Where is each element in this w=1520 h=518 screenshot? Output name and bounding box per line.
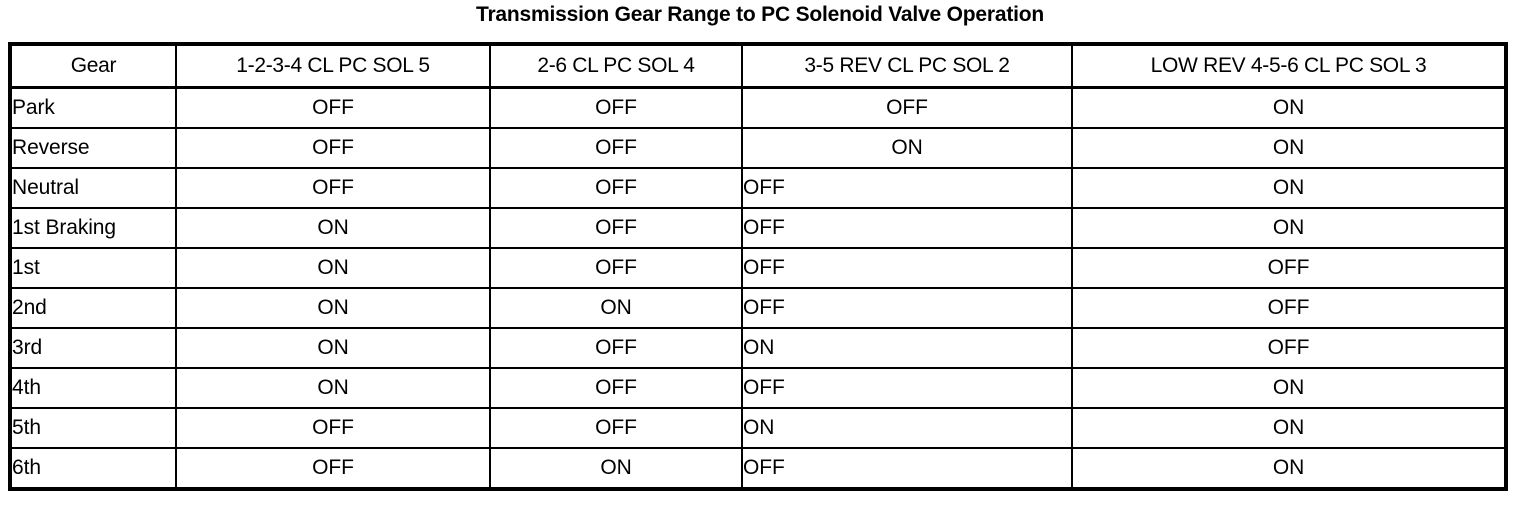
cell-sol3: ON — [1072, 168, 1506, 208]
column-header-sol2: 3-5 REV CL PC SOL 2 — [742, 44, 1072, 88]
solenoid-operation-table: Gear 1-2-3-4 CL PC SOL 5 2-6 CL PC SOL 4… — [8, 42, 1508, 491]
cell-gear: Neutral — [10, 168, 176, 208]
column-header-sol5: 1-2-3-4 CL PC SOL 5 — [176, 44, 490, 88]
table-header-row: Gear 1-2-3-4 CL PC SOL 5 2-6 CL PC SOL 4… — [10, 44, 1506, 88]
cell-sol5: ON — [176, 328, 490, 368]
cell-sol4: OFF — [490, 88, 742, 129]
cell-sol4: OFF — [490, 208, 742, 248]
cell-sol2: ON — [742, 328, 1072, 368]
cell-sol5: OFF — [176, 448, 490, 489]
cell-sol5: ON — [176, 368, 490, 408]
cell-gear: 2nd — [10, 288, 176, 328]
table-row: ParkOFFOFFOFFON — [10, 88, 1506, 129]
cell-sol2: ON — [742, 128, 1072, 168]
table-row: 5thOFFOFFONON — [10, 408, 1506, 448]
cell-sol3: OFF — [1072, 248, 1506, 288]
cell-sol3: ON — [1072, 368, 1506, 408]
cell-sol4: OFF — [490, 248, 742, 288]
page-root: Transmission Gear Range to PC Solenoid V… — [0, 0, 1520, 518]
cell-sol5: OFF — [176, 128, 490, 168]
cell-gear: 6th — [10, 448, 176, 489]
cell-sol2: OFF — [742, 88, 1072, 129]
table-row: 2ndONONOFFOFF — [10, 288, 1506, 328]
cell-sol5: ON — [176, 208, 490, 248]
cell-sol4: OFF — [490, 408, 742, 448]
table-header: Gear 1-2-3-4 CL PC SOL 5 2-6 CL PC SOL 4… — [10, 44, 1506, 88]
cell-gear: Reverse — [10, 128, 176, 168]
cell-sol5: OFF — [176, 88, 490, 129]
table-row: NeutralOFFOFFOFFON — [10, 168, 1506, 208]
table-row: 1st BrakingONOFFOFFON — [10, 208, 1506, 248]
cell-sol4: OFF — [490, 168, 742, 208]
cell-sol4: ON — [490, 288, 742, 328]
cell-sol2: OFF — [742, 248, 1072, 288]
table-row: 4thONOFFOFFON — [10, 368, 1506, 408]
cell-sol3: ON — [1072, 448, 1506, 489]
cell-sol5: ON — [176, 248, 490, 288]
cell-sol5: OFF — [176, 168, 490, 208]
cell-gear: 4th — [10, 368, 176, 408]
cell-sol5: OFF — [176, 408, 490, 448]
cell-sol3: ON — [1072, 88, 1506, 129]
table-row: 6thOFFONOFFON — [10, 448, 1506, 489]
cell-gear: 1st — [10, 248, 176, 288]
cell-sol5: ON — [176, 288, 490, 328]
cell-sol3: OFF — [1072, 288, 1506, 328]
table-row: ReverseOFFOFFONON — [10, 128, 1506, 168]
cell-sol2: OFF — [742, 288, 1072, 328]
cell-sol3: OFF — [1072, 328, 1506, 368]
cell-sol4: OFF — [490, 368, 742, 408]
cell-sol2: OFF — [742, 368, 1072, 408]
cell-gear: 5th — [10, 408, 176, 448]
table-body: ParkOFFOFFOFFONReverseOFFOFFONONNeutralO… — [10, 88, 1506, 490]
column-header-sol4: 2-6 CL PC SOL 4 — [490, 44, 742, 88]
table-row: 3rdONOFFONOFF — [10, 328, 1506, 368]
cell-sol2: OFF — [742, 208, 1072, 248]
cell-gear: Park — [10, 88, 176, 129]
cell-sol2: OFF — [742, 448, 1072, 489]
cell-sol2: OFF — [742, 168, 1072, 208]
cell-sol3: ON — [1072, 208, 1506, 248]
cell-sol4: OFF — [490, 328, 742, 368]
cell-sol4: ON — [490, 448, 742, 489]
solenoid-operation-table-container: Gear 1-2-3-4 CL PC SOL 5 2-6 CL PC SOL 4… — [8, 42, 1504, 491]
cell-sol3: ON — [1072, 128, 1506, 168]
cell-gear: 3rd — [10, 328, 176, 368]
column-header-sol3: LOW REV 4-5-6 CL PC SOL 3 — [1072, 44, 1506, 88]
cell-sol4: OFF — [490, 128, 742, 168]
page-title: Transmission Gear Range to PC Solenoid V… — [0, 2, 1520, 28]
table-row: 1stONOFFOFFOFF — [10, 248, 1506, 288]
cell-sol2: ON — [742, 408, 1072, 448]
cell-gear: 1st Braking — [10, 208, 176, 248]
column-header-gear: Gear — [10, 44, 176, 88]
cell-sol3: ON — [1072, 408, 1506, 448]
